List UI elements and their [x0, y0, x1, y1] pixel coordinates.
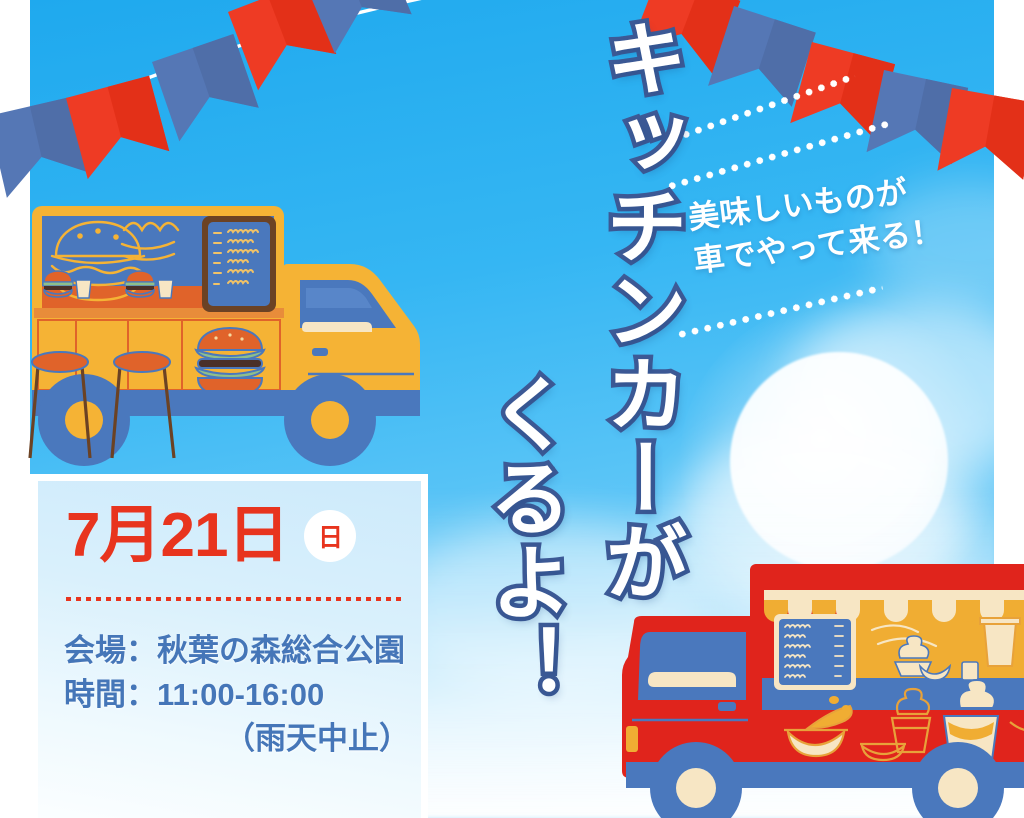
event-date-row: 7月21日 日	[66, 505, 356, 567]
title-column-right: キッチンカーが	[596, 16, 680, 656]
burger-food-truck-icon	[24, 196, 444, 496]
dotted-divider	[66, 597, 406, 601]
venue-line: 会場：秋葉の森総合公園	[64, 629, 424, 673]
time-line: 時間：11:00-16:00	[64, 673, 424, 717]
note-line: （雨天中止）	[64, 717, 424, 761]
event-details: 会場：秋葉の森総合公園 時間：11:00-16:00 （雨天中止）	[64, 629, 424, 761]
sunday-badge-icon: 日	[304, 510, 356, 562]
title-column-left: くるよ！	[480, 372, 564, 802]
poster-canvas: 美味しいものが 車でやって来る！ キッチンカーが くるよ！ 7月21日 日 会場…	[0, 0, 1024, 818]
event-info-panel: 7月21日 日 会場：秋葉の森総合公園 時間：11:00-16:00 （雨天中止…	[30, 474, 428, 818]
page-title: キッチンカーが くるよ！	[432, 0, 682, 818]
event-date: 7月21日	[66, 505, 288, 567]
